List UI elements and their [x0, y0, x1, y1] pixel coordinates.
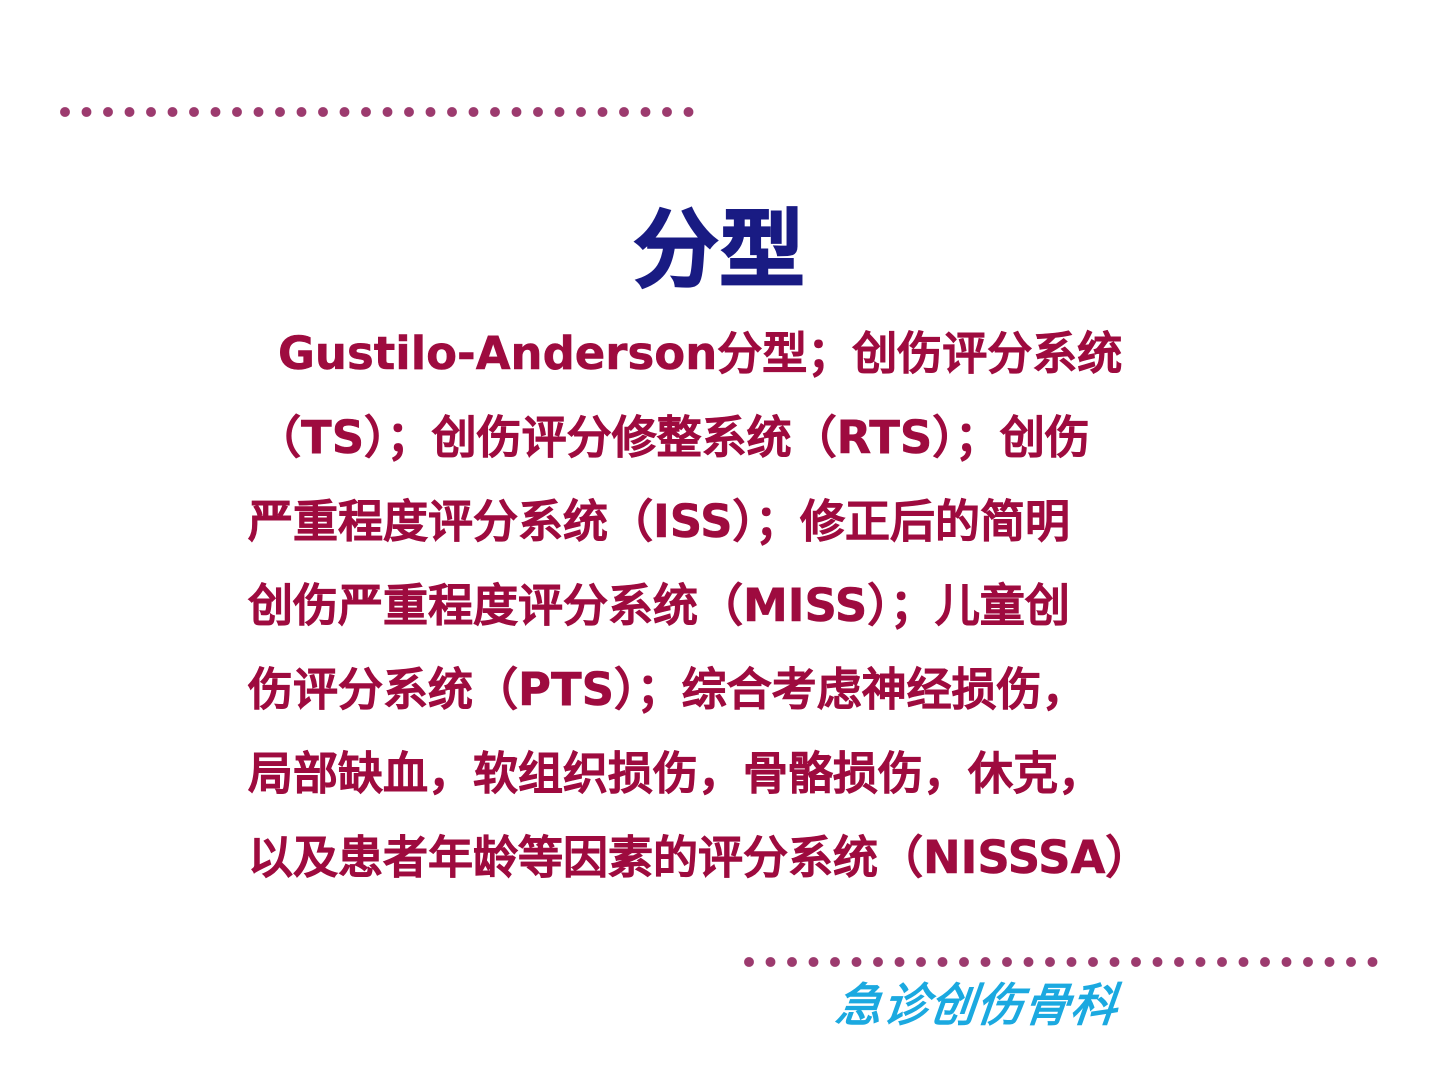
body-text-block: Gustilo-Anderson分型；创伤评分系统 （TS）；创伤评分修整系统（… — [248, 312, 1194, 900]
footer-signature: 急诊创伤骨科 — [834, 982, 1121, 1028]
dotted-rule-bottom-decoration — [742, 955, 1382, 969]
body-line: 局部缺血，软组织损伤，骨骼损伤，休克， — [248, 732, 1194, 816]
body-line: 以及患者年龄等因素的评分系统（NISSSA） — [248, 816, 1194, 900]
dotted-rule-top-decoration — [58, 105, 698, 119]
body-line: 严重程度评分系统（ISS）；修正后的简明 — [248, 480, 1194, 564]
body-line: 创伤严重程度评分系统（MISS）；儿童创 — [248, 564, 1194, 648]
slide-root: 分型 Gustilo-Anderson分型；创伤评分系统 （TS）；创伤评分修整… — [0, 0, 1440, 1080]
body-line: Gustilo-Anderson分型；创伤评分系统 — [248, 312, 1194, 396]
body-line: 伤评分系统（PTS）；综合考虑神经损伤， — [248, 648, 1194, 732]
body-line: （TS）；创伤评分修整系统（RTS）；创伤 — [248, 396, 1194, 480]
page-title: 分型 — [0, 208, 1440, 292]
